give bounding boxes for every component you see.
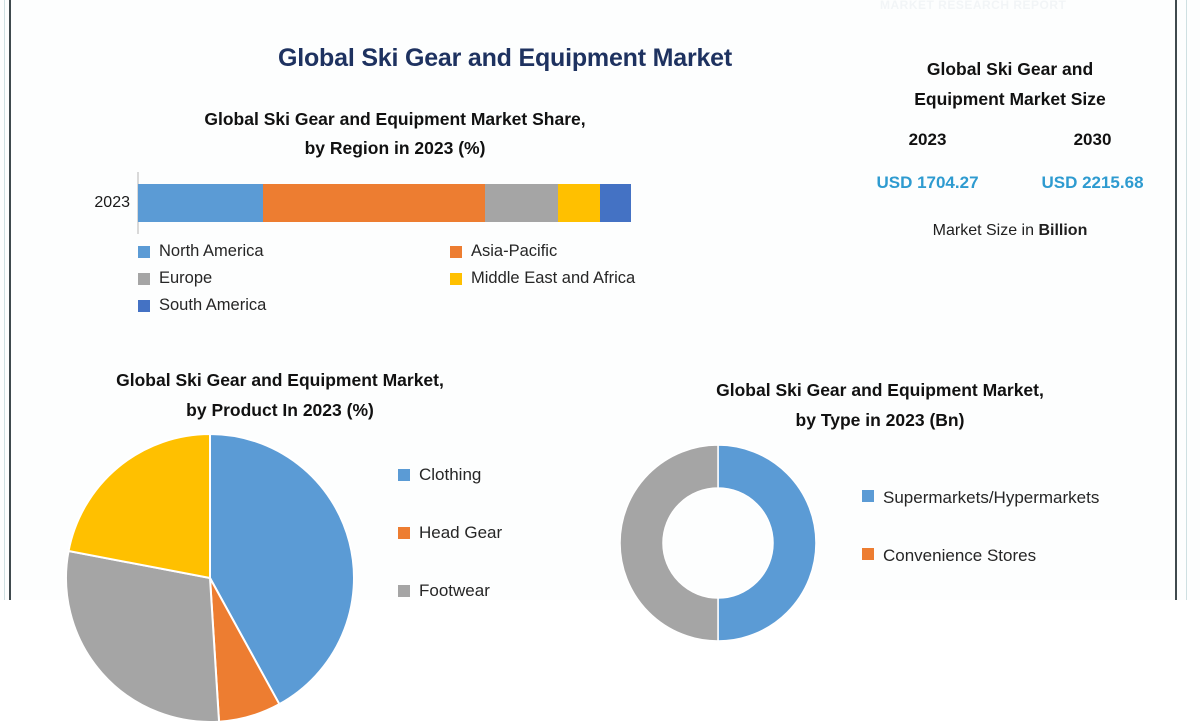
region-chart-title: Global Ski Gear and Equipment Market Sha… — [65, 105, 725, 163]
legend-item-label: North America — [159, 242, 264, 261]
region-chart-legend: North AmericaAsia-PacificEuropeMiddle Ea… — [138, 242, 738, 315]
product-chart-title-line1: Global Ski Gear and Equipment Market, — [116, 370, 444, 390]
region-chart-plot: 2023 — [40, 172, 740, 234]
market-size-title: Global Ski Gear and Equipment Market Siz… — [845, 54, 1175, 114]
legend-item[interactable]: Head Gear — [398, 523, 502, 543]
legend-item[interactable]: Middle East and Africa — [450, 269, 750, 288]
legend-swatch-icon — [138, 273, 150, 285]
market-size-title-line1: Global Ski Gear and — [927, 59, 1093, 79]
product-pie-graphic — [65, 433, 355, 723]
region-stacked-bar — [138, 184, 631, 222]
legend-item-label: Convenience Stores — [883, 543, 1182, 569]
product-chart-title-line2: by Product In 2023 (%) — [186, 400, 374, 420]
market-size-panel: Global Ski Gear and Equipment Market Siz… — [845, 54, 1175, 240]
legend-swatch-icon — [138, 300, 150, 312]
donut-slice — [718, 445, 816, 641]
legend-item-label: Supermarkets/Hypermarkets — [883, 485, 1182, 511]
legend-item[interactable]: Europe — [138, 269, 450, 288]
product-chart-title: Global Ski Gear and Equipment Market, by… — [30, 365, 530, 425]
product-chart-legend: ClothingHead GearFootwear — [398, 465, 502, 639]
legend-swatch-icon — [450, 246, 462, 258]
legend-item-label: Europe — [159, 269, 212, 288]
region-chart-title-line1: Global Ski Gear and Equipment Market Sha… — [204, 109, 585, 129]
legend-item[interactable]: Footwear — [398, 581, 502, 601]
legend-swatch-icon — [862, 490, 874, 502]
legend-swatch-icon — [398, 585, 410, 597]
legend-item-label: South America — [159, 296, 266, 315]
market-size-footnote-prefix: Market Size in — [933, 222, 1039, 239]
region-chart-title-line2: by Region in 2023 (%) — [305, 138, 486, 158]
legend-item[interactable]: Convenience Stores — [862, 543, 1182, 569]
market-size-years: 2023 2030 — [845, 130, 1175, 150]
legend-item-label: Head Gear — [419, 523, 502, 543]
type-share-chart: Global Ski Gear and Equipment Market, by… — [600, 375, 1180, 435]
market-size-footnote-unit: Billion — [1038, 222, 1087, 239]
market-size-value-2030: USD 2215.68 — [1010, 173, 1175, 193]
legend-swatch-icon — [862, 548, 874, 560]
legend-item[interactable]: South America — [138, 296, 450, 315]
legend-item[interactable]: Supermarkets/Hypermarkets — [862, 485, 1182, 511]
region-bar-segment — [138, 184, 263, 222]
frame-outer-right-rule — [1186, 0, 1187, 600]
frame-outer-left-rule — [4, 0, 5, 600]
legend-item-label: Clothing — [419, 465, 481, 485]
market-size-value-2023: USD 1704.27 — [845, 173, 1010, 193]
region-bar-segment — [485, 184, 558, 222]
legend-item-label: Asia-Pacific — [471, 242, 557, 261]
region-share-chart: Global Ski Gear and Equipment Market Sha… — [40, 105, 740, 340]
type-chart-title-line1: Global Ski Gear and Equipment Market, — [716, 380, 1044, 400]
market-size-values: USD 1704.27 USD 2215.68 — [845, 173, 1175, 193]
type-donut-svg — [618, 443, 818, 643]
market-size-year-2030: 2030 — [1010, 130, 1175, 150]
market-size-title-line2: Equipment Market Size — [914, 89, 1106, 109]
type-chart-title: Global Ski Gear and Equipment Market, by… — [600, 375, 1160, 435]
region-bar-segment — [263, 184, 485, 222]
region-chart-category-label: 2023 — [62, 194, 130, 212]
type-chart-title-line2: by Type in 2023 (Bn) — [796, 410, 965, 430]
infographic-page: MARKET RESEARCH REPORT Global Ski Gear a… — [0, 0, 1200, 600]
legend-item[interactable]: North America — [138, 242, 450, 261]
frame-left-rule — [9, 0, 11, 600]
type-chart-legend: Supermarkets/HypermarketsConvenience Sto… — [862, 485, 1182, 601]
page-title: Global Ski Gear and Equipment Market — [160, 44, 850, 73]
region-bar-segment — [558, 184, 600, 222]
legend-swatch-icon — [450, 273, 462, 285]
market-size-year-2023: 2023 — [845, 130, 1010, 150]
product-pie-svg — [65, 433, 355, 723]
market-size-footnote: Market Size in Billion — [845, 222, 1175, 240]
legend-item[interactable]: Clothing — [398, 465, 502, 485]
legend-item[interactable]: Asia-Pacific — [450, 242, 750, 261]
region-bar-segment — [600, 184, 631, 222]
donut-slice — [620, 445, 718, 641]
legend-item-label: Footwear — [419, 581, 490, 601]
pie-slice — [66, 551, 219, 722]
legend-item-label: Middle East and Africa — [471, 269, 635, 288]
type-donut-graphic — [618, 443, 818, 643]
legend-swatch-icon — [398, 469, 410, 481]
legend-swatch-icon — [398, 527, 410, 539]
legend-swatch-icon — [138, 246, 150, 258]
watermark-text: MARKET RESEARCH REPORT — [880, 0, 1180, 11]
product-share-chart: Global Ski Gear and Equipment Market, by… — [30, 365, 590, 425]
